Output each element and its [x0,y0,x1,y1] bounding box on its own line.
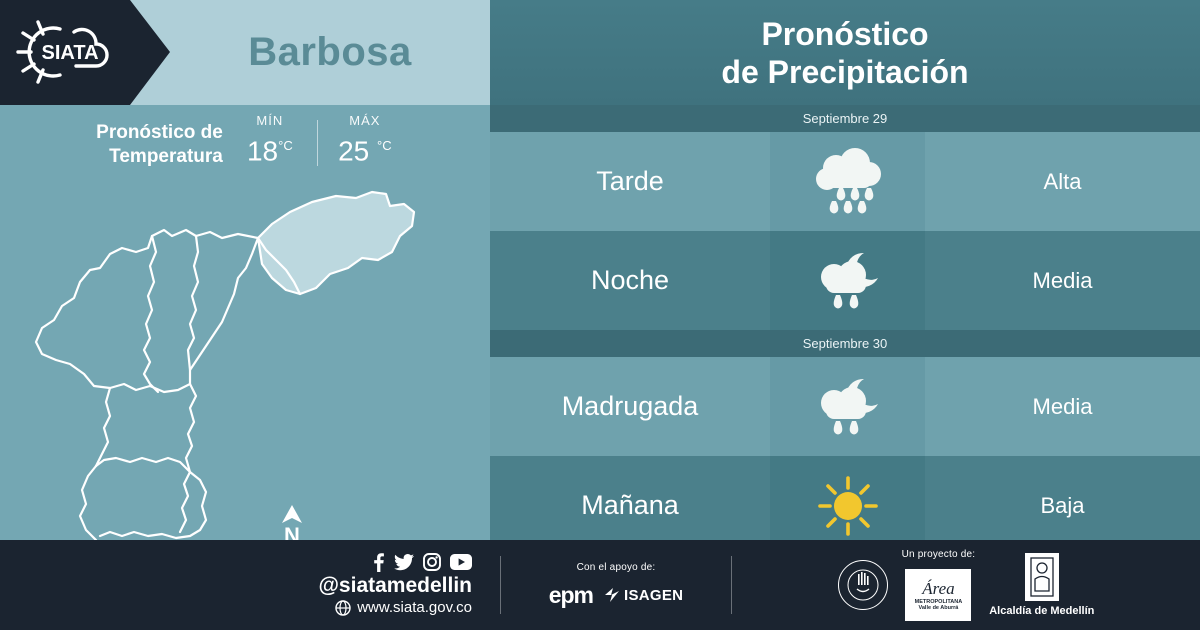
date-separator: Septiembre 30 [490,330,1200,357]
municipality-map: N [0,178,490,540]
support-caption: Con el apoyo de: [511,562,721,573]
temperature-title: Pronóstico de Temperatura [96,112,223,169]
temperature-min-value-wrap: 18°C [241,130,299,167]
forecast-level: Media [925,357,1200,456]
temperature-min-value: 18 [247,135,278,166]
moon-rain-cloud-icon [808,245,888,317]
siata-logo-text: SIATA [41,42,98,64]
precipitation-panel: Pronóstico de Precipitación Septiembre 2… [490,0,1200,540]
heavy-rain-cloud-icon [806,146,890,218]
forecast-period: Tarde [490,132,770,231]
temperature-max-label: MÁX [336,112,394,130]
forecast-icon-cell [770,357,925,456]
forecast-row[interactable]: Tarde [490,132,1200,231]
epm-logo: epm [549,582,593,609]
infographic-root: SIATA Barbosa Pronóstico de Temperatura … [0,0,1200,630]
instagram-icon[interactable] [423,553,441,571]
footer-social: @siatamedellin www.siata.gov.co [0,553,500,618]
youtube-icon[interactable] [450,554,472,570]
alcaldia-block: Alcaldía de Medellín [989,553,1094,617]
alcaldia-crest-icon [1025,553,1059,601]
isagen-mark-icon [605,588,621,602]
sun-icon [810,470,886,542]
moon-rain-cloud-icon [808,371,888,443]
forecast-rows: Septiembre 29 Tarde [490,105,1200,555]
temperature-max: MÁX 25 °C [336,112,394,167]
date-separator: Septiembre 29 [490,105,1200,132]
temperature-max-value: 25 [338,135,369,166]
temperature-summary: Pronóstico de Temperatura MÍN 18°C MÁX 2… [0,112,490,182]
temperature-title-line2: Temperatura [96,145,223,169]
isagen-logo: ISAGEN [605,587,683,604]
globe-icon [335,600,351,616]
temperature-min: MÍN 18°C [241,112,299,167]
support-logos: epm ISAGEN [511,582,721,609]
seal-inner-icon [843,565,883,605]
facebook-icon[interactable] [372,553,385,572]
udea-seal-icon [838,560,888,610]
footer-project: Un proyecto de: Área METROPOLITANA Valle… [732,549,1200,621]
city-title: Barbosa [170,0,490,105]
project-caption: Un proyecto de: [902,549,976,560]
map-region-outlines [36,230,300,540]
sun-cloud-icon: SIATA [14,16,126,88]
map-region-barbosa [258,192,414,294]
footer: @siatamedellin www.siata.gov.co Con el a… [0,540,1200,630]
forecast-level: Alta [925,132,1200,231]
amva-block: Un proyecto de: Área METROPOLITANA Valle… [902,549,976,621]
amva-logo: Área METROPOLITANA Valle de Aburrá [905,569,971,621]
north-arrow-icon [279,503,305,525]
footer-support: Con el apoyo de: epm ISAGEN [501,562,731,609]
forecast-row[interactable]: Madrugada Media [490,357,1200,456]
aburra-valley-map-svg [0,178,490,540]
social-icons [372,553,472,572]
alcaldia-label: Alcaldía de Medellín [989,605,1094,617]
forecast-icon-cell [770,132,925,231]
forecast-period: Noche [490,231,770,330]
isagen-label: ISAGEN [624,587,683,604]
forecast-period: Madrugada [490,357,770,456]
temperature-min-label: MÍN [241,112,299,130]
amva-script: Área [922,580,954,597]
forecast-row[interactable]: Noche Media [490,231,1200,330]
social-handle[interactable]: @siatamedellin [318,574,472,598]
amva-line2: Valle de Aburrá [919,605,959,611]
forecast-icon-cell [770,231,925,330]
temperature-max-unit: °C [377,138,392,153]
temperature-max-value-wrap: 25 °C [336,130,394,167]
twitter-icon[interactable] [394,554,414,571]
temperature-title-line1: Pronóstico de [96,121,223,145]
website-line[interactable]: www.siata.gov.co [335,598,472,618]
temperature-divider [317,120,318,166]
temperature-panel: SIATA Barbosa Pronóstico de Temperatura … [0,0,490,540]
precipitation-title-line1: Pronóstico [761,15,928,53]
temperature-min-unit: °C [278,138,293,153]
precipitation-title-line2: de Precipitación [721,53,968,91]
forecast-level: Media [925,231,1200,330]
left-header: SIATA Barbosa [0,0,490,105]
siata-logo-flag: SIATA [0,0,170,105]
precipitation-title: Pronóstico de Precipitación [490,0,1200,105]
website-url: www.siata.gov.co [357,598,472,618]
